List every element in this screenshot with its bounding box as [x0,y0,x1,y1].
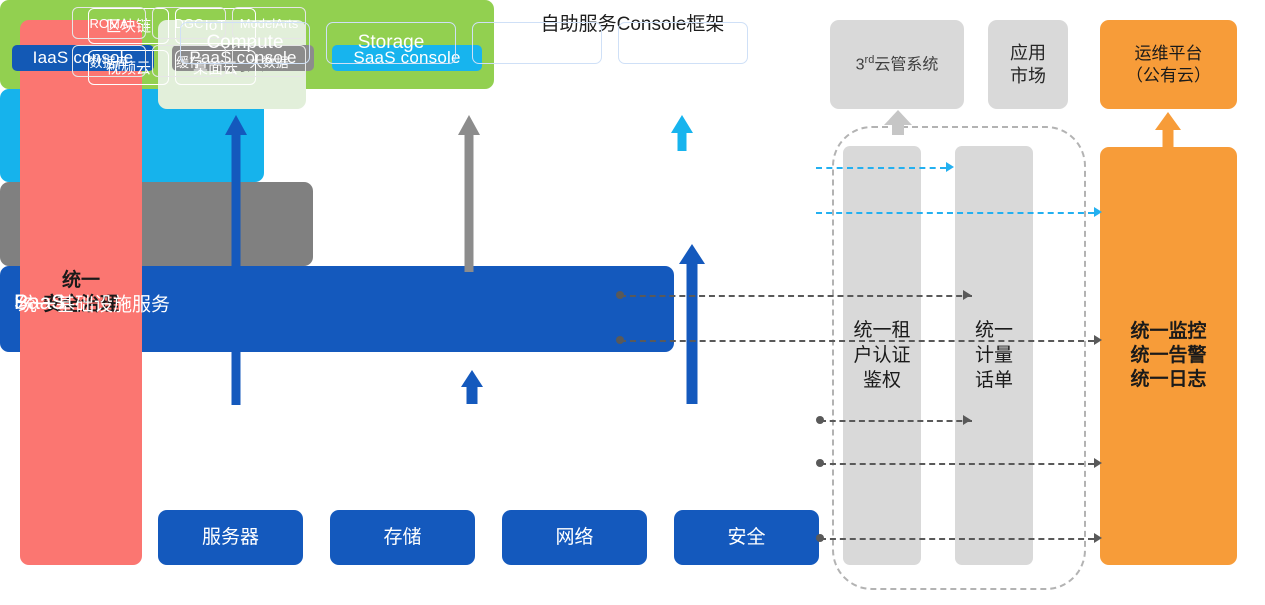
ops-platform-top-box[interactable]: 运维平台 （公有云） [1100,20,1237,109]
hardware-label: 安全 [727,526,765,550]
unified-metering-label: 统一 计量 话单 [975,318,1013,393]
third-cloud-rest: 云管系统 [874,56,938,73]
architecture-diagram: 统一 安全治理 API网关 自助服务Console框架 IaaS console… [0,0,1265,605]
ops-platform-top-label: 运维平台 （公有云） [1126,43,1211,86]
hardware-label: 网络 [555,526,593,550]
app-market-box[interactable]: 应用 市场 [988,20,1068,109]
dashed-paas-to-auth [620,295,972,297]
third-cloud-prefix: 3 [856,56,865,73]
paas-item[interactable]: ROMA [72,7,146,39]
arrow-infra-to-api-gateway [222,115,250,405]
dashed-arrowhead [1094,533,1102,543]
unified-tenant-auth-label: 统一租 户认证 鉴权 [853,318,910,393]
dashed-arrowhead [1094,207,1102,217]
arrow-paas-to-console [455,115,483,272]
ops-platform-panel-label: 统一监控 统一告警 统一日志 [1130,320,1206,391]
infra-chip-storage[interactable]: Storage [326,22,456,64]
dashed-arrowhead [963,415,971,425]
dashed-infra-to-ops [820,463,1094,465]
infrastructure-chips: Compute Storage Network CCE [180,22,748,64]
dashed-infra-to-auth [820,420,972,422]
dashed-saas-to-ops [816,212,1094,214]
hardware-label: 存储 [383,526,421,550]
dashed-arrowhead [963,290,971,300]
dashed-arrowhead [1094,335,1102,345]
dashed-arrowhead [946,162,954,172]
dashed-hardware-to-ops [820,538,1094,540]
infra-chip-compute[interactable]: Compute [180,22,310,64]
arrow-infra-to-paas [458,370,486,404]
dashed-arrowhead [1094,458,1102,468]
unified-tenant-auth-column[interactable]: 统一租 户认证 鉴权 [843,146,921,565]
arrow-infra-to-saas [677,244,707,404]
hardware-box-security[interactable]: 安全 [674,510,819,565]
arrow-ops-panel-to-ops-top [1154,112,1182,149]
app-market-label: 应用 市场 [1010,42,1046,87]
dashed-saas-to-auth [816,167,946,169]
hardware-label: 服务器 [202,526,259,550]
arrow-capsule-to-third-cloud [883,110,913,134]
unified-metering-column[interactable]: 统一 计量 话单 [955,146,1033,565]
third-cloud-sup: rd [865,54,875,66]
unified-infrastructure-label: 统一基础设施服务 [18,289,170,316]
infra-chip-network[interactable]: Network [472,22,602,64]
hardware-box-storage[interactable]: 存储 [330,510,475,565]
third-party-cloud-mgmt-box[interactable]: 3rd云管系统 [830,20,964,109]
hardware-box-network[interactable]: 网络 [502,510,647,565]
paas-item[interactable]: 数据库 [72,45,146,77]
arrow-saas-to-console [668,115,696,151]
ops-platform-panel[interactable]: 统一监控 统一告警 统一日志 [1100,147,1237,565]
infra-chip-cce[interactable]: CCE [618,22,748,64]
third-party-cloud-mgmt-label: 3rd云管系统 [856,54,939,75]
dashed-paas-to-ops [620,340,1094,342]
hardware-box-server[interactable]: 服务器 [158,510,303,565]
